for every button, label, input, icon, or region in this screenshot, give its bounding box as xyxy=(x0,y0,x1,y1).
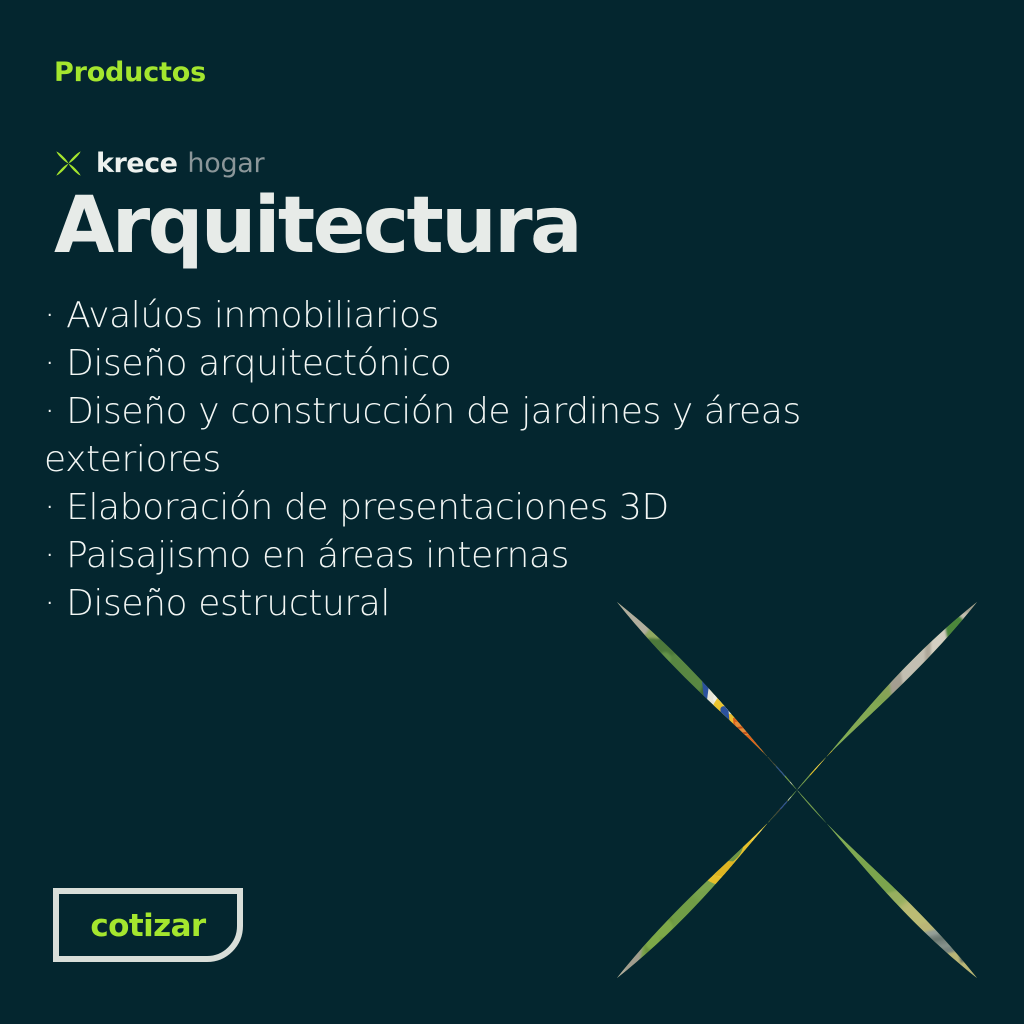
page-title: Arquitectura xyxy=(54,186,580,268)
cotizar-button-label: cotizar xyxy=(90,911,205,942)
section-eyebrow: Productos xyxy=(54,57,206,88)
list-item: Elaboración de presentaciones 3D xyxy=(44,484,834,532)
krece-clover-x-icon xyxy=(54,149,83,178)
list-item: Diseño y construcción de jardines y área… xyxy=(44,388,834,484)
feature-list: Avalúos inmobiliarios Diseño arquitectón… xyxy=(44,292,834,628)
brand-name: krece xyxy=(96,150,177,177)
list-item: Diseño arquitectónico xyxy=(44,340,834,388)
brand-sub-name: hogar xyxy=(187,150,264,177)
playground-photo xyxy=(607,598,987,982)
brand-lockup: krece hogar xyxy=(54,146,264,180)
list-item: Paisajismo en áreas internas xyxy=(44,532,834,580)
cotizar-button[interactable]: cotizar xyxy=(53,888,243,962)
list-item: Avalúos inmobiliarios xyxy=(44,292,834,340)
